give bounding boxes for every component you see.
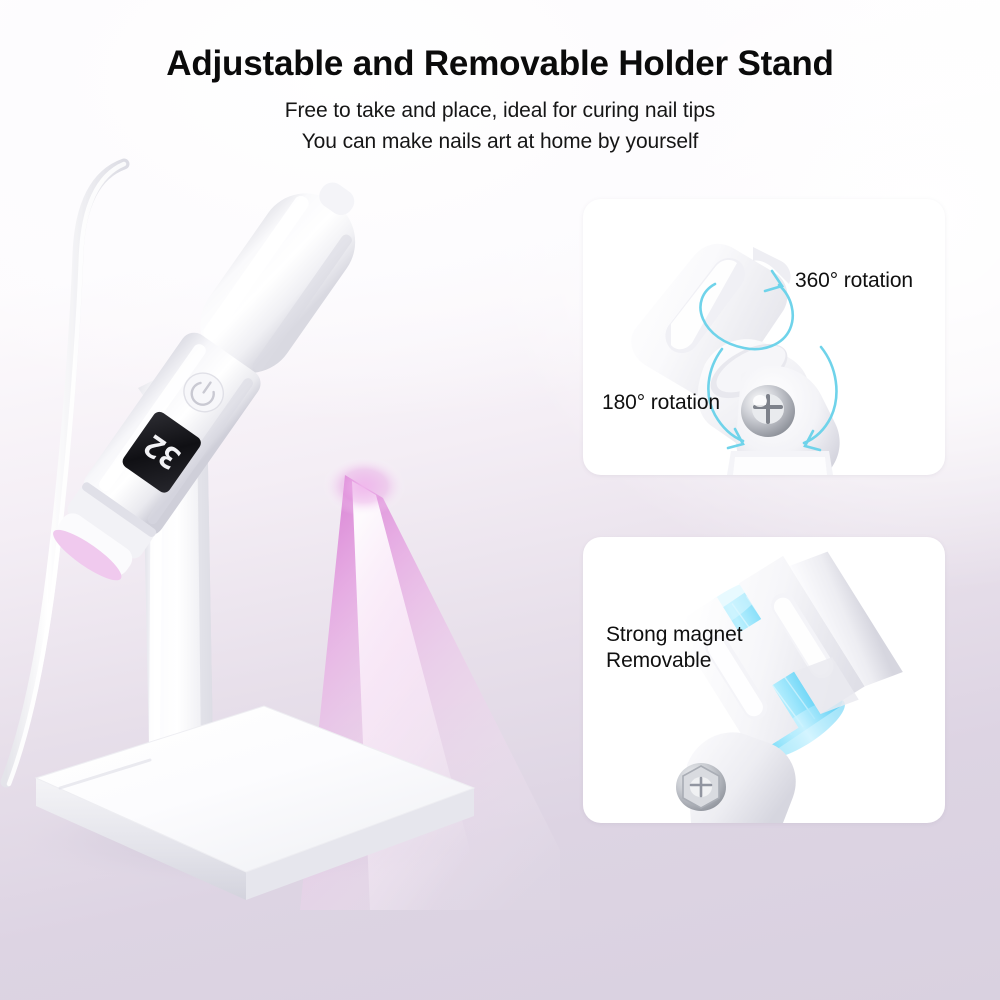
product-infographic-page: Adjustable and Removable Holder Stand Fr… <box>0 0 1000 1000</box>
panel-magnet <box>583 537 945 823</box>
label-magnet-line-2: Removable <box>606 648 742 674</box>
holder-base-cap <box>727 451 833 475</box>
label-360-rotation: 360° rotation <box>795 268 913 294</box>
label-magnet: Strong magnet Removable <box>606 622 742 675</box>
label-360-rotation-text: 360° rotation <box>795 269 913 292</box>
panel-rotation <box>583 199 945 475</box>
label-magnet-line-1: Strong magnet <box>606 622 742 648</box>
uv-lamp-pen: 32 <box>42 161 384 592</box>
header: Adjustable and Removable Holder Stand Fr… <box>0 0 1000 157</box>
page-title: Adjustable and Removable Holder Stand <box>0 0 1000 84</box>
label-180-rotation: 180° rotation <box>602 390 720 416</box>
label-180-rotation-text: 180° rotation <box>602 391 720 414</box>
main-product-photo: 32 <box>0 150 560 910</box>
subtitle-block: Free to take and place, ideal for curing… <box>0 96 1000 157</box>
subtitle-line-2: You can make nails art at home by yourse… <box>0 127 1000 157</box>
subtitle-line-1: Free to take and place, ideal for curing… <box>0 96 1000 126</box>
